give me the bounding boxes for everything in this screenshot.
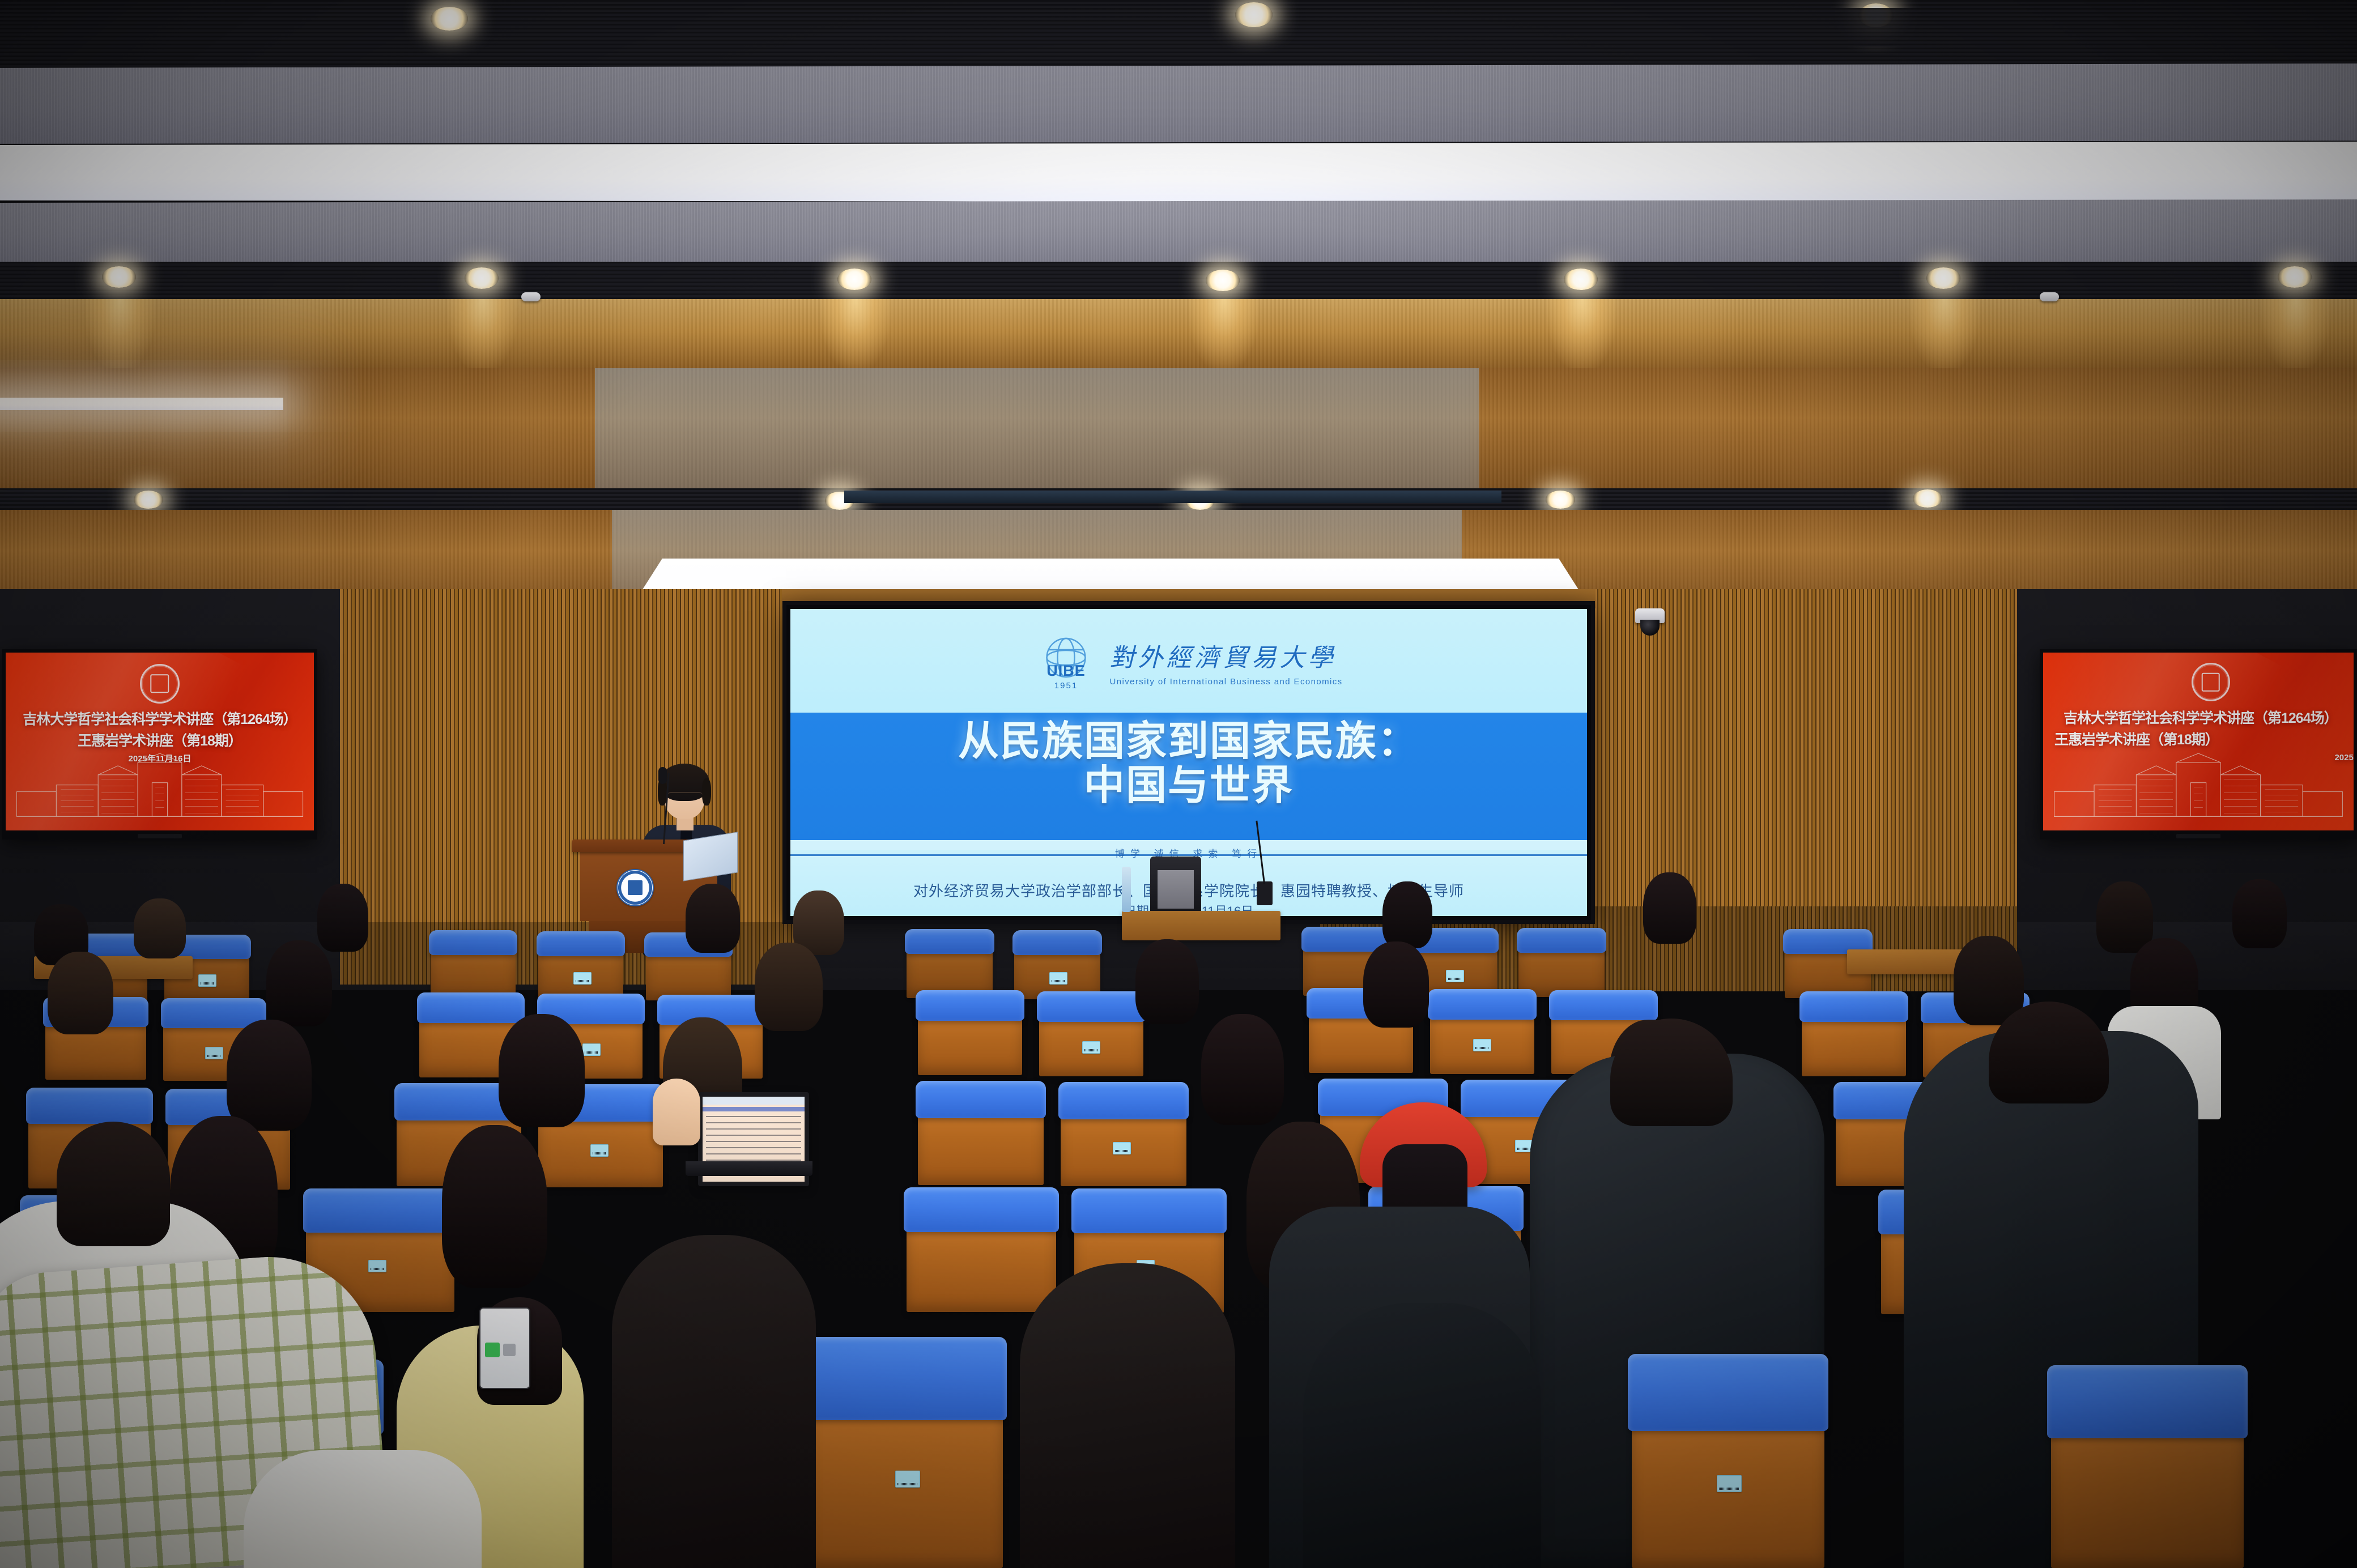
audience-person xyxy=(48,952,113,1037)
display-foot xyxy=(2176,834,2220,838)
seat xyxy=(538,931,623,1000)
jlu-seal-icon xyxy=(140,664,180,704)
audience-person xyxy=(1201,1014,1284,1127)
seat xyxy=(1802,991,1906,1076)
audience-person xyxy=(2232,879,2287,951)
audience-person xyxy=(1643,872,1696,946)
spotlight-icon xyxy=(1926,267,1960,289)
ceiling-wood-beam xyxy=(0,299,2357,370)
smartphone-screen xyxy=(479,1307,530,1389)
uibe-name-en: University of International Business and… xyxy=(1109,677,1342,687)
slide-title-line2: 中国与世界 xyxy=(790,764,1587,808)
seat xyxy=(2051,1365,2244,1568)
slide-title-line1: 从民族国家到国家民族： xyxy=(790,720,1587,764)
lectern-mic-head xyxy=(658,767,667,784)
seat xyxy=(1014,930,1100,999)
campus-building-illustration xyxy=(6,752,314,820)
ceiling-acoustic-panel xyxy=(0,63,2357,144)
raised-hand xyxy=(653,1079,700,1145)
seat xyxy=(1061,1082,1186,1186)
lectern-emblem-icon xyxy=(616,869,654,906)
seat xyxy=(1430,989,1534,1074)
seat xyxy=(918,1081,1044,1185)
lecture-hall-photo: 吉林大学哲学社会科学学术讲座（第1264场） 王惠岩学术讲座（第18期） 202… xyxy=(0,0,2357,1568)
left-banner-display: 吉林大学哲学社会科学学术讲座（第1264场） 王惠岩学术讲座（第18期） 202… xyxy=(2,649,317,840)
spotlight-icon xyxy=(1564,269,1598,290)
audience-person xyxy=(266,940,332,1029)
ceiling-light-strip xyxy=(0,398,283,410)
cool-light-wash xyxy=(595,368,1479,493)
audience-person xyxy=(134,898,186,961)
audience-person xyxy=(442,1125,547,1295)
foreground-person-hair xyxy=(1020,1263,1235,1568)
seat xyxy=(810,1337,1003,1568)
audience-person xyxy=(1135,939,1199,1026)
audience-person-hair xyxy=(57,1122,170,1246)
seat xyxy=(1518,928,1605,997)
seat xyxy=(907,1187,1056,1312)
front-table xyxy=(1122,911,1280,940)
campus-building-illustration xyxy=(2043,752,2354,820)
spotlight-icon xyxy=(837,269,871,290)
audience-laptop-base xyxy=(686,1161,812,1176)
ceiling-light-strip xyxy=(0,142,2357,203)
foreground-person-coat xyxy=(1303,1303,1541,1568)
spotlight-icon xyxy=(465,267,499,289)
spotlight-icon xyxy=(1206,270,1240,291)
spotlight-icon xyxy=(431,7,468,31)
ceiling-vent xyxy=(1507,8,2176,46)
audience-person xyxy=(1363,941,1429,1030)
left-banner-line1: 吉林大学哲学社会科学学术讲座（第1264场） xyxy=(6,708,314,728)
uibe-logo: UIBE 1951 對外經濟貿易大學 University of Interna… xyxy=(1035,630,1342,693)
monitor-screen xyxy=(1158,870,1194,909)
svg-text:1951: 1951 xyxy=(1054,681,1078,691)
seat xyxy=(1632,1354,1824,1568)
security-camera-icon xyxy=(1635,608,1665,623)
audience-person xyxy=(499,1014,585,1130)
audience-person xyxy=(2130,938,2198,1028)
svg-text:UIBE: UIBE xyxy=(1046,662,1086,679)
left-banner-line2: 王惠岩学术讲座（第18期） xyxy=(6,730,314,750)
water-bottle xyxy=(1122,867,1131,912)
smoke-detector-icon xyxy=(521,292,541,301)
spotlight-icon xyxy=(1235,2,1273,27)
seat xyxy=(1039,991,1143,1076)
audience-person xyxy=(755,943,823,1033)
speaker-glasses-icon xyxy=(667,792,703,800)
right-banner-screen: 吉林大学哲学社会科学学术讲座（第1264场） 王惠岩学术讲座（第18期） 202… xyxy=(2043,653,2354,830)
spotlight-icon xyxy=(102,266,136,288)
ceiling-vent xyxy=(844,491,1501,503)
ceiling xyxy=(0,0,2357,600)
seat xyxy=(431,930,516,999)
seat xyxy=(918,990,1022,1075)
spotlight-icon xyxy=(1546,491,1575,509)
foreground-white-sleeve xyxy=(244,1450,482,1568)
spotlight-icon xyxy=(1913,489,1942,508)
right-banner-line2: 王惠岩学术讲座（第18期） xyxy=(2054,728,2354,749)
display-foot xyxy=(138,834,182,838)
uibe-name-cn: 對外經濟貿易大學 xyxy=(1109,637,1342,674)
jlu-seal-icon xyxy=(2192,663,2230,701)
audience-person xyxy=(1382,881,1432,951)
right-banner-display: 吉林大学哲学社会科学学术讲座（第1264场） 王惠岩学术讲座（第18期） 202… xyxy=(2040,649,2357,840)
lectern-laptop xyxy=(683,832,738,881)
uibe-globe-icon: UIBE 1951 xyxy=(1035,630,1097,693)
smoke-detector-icon xyxy=(2040,292,2059,301)
spotlight-icon xyxy=(134,491,163,509)
audience-person xyxy=(686,884,740,955)
left-banner-screen: 吉林大学哲学社会科学学术讲座（第1264场） 王惠岩学术讲座（第18期） 202… xyxy=(6,653,314,830)
slide-title: 从民族国家到国家民族： 中国与世界 xyxy=(790,720,1587,808)
foreground-person-hair xyxy=(612,1235,816,1568)
spotlight-icon xyxy=(2278,266,2312,288)
seat xyxy=(907,929,993,998)
desk-microphone-base xyxy=(1257,881,1273,905)
ceiling-acoustic-panel xyxy=(0,199,2357,266)
right-banner-line1: 吉林大学哲学社会科学学术讲座（第1264场） xyxy=(2064,707,2354,727)
ceiling-baffle-strip xyxy=(0,262,2357,302)
